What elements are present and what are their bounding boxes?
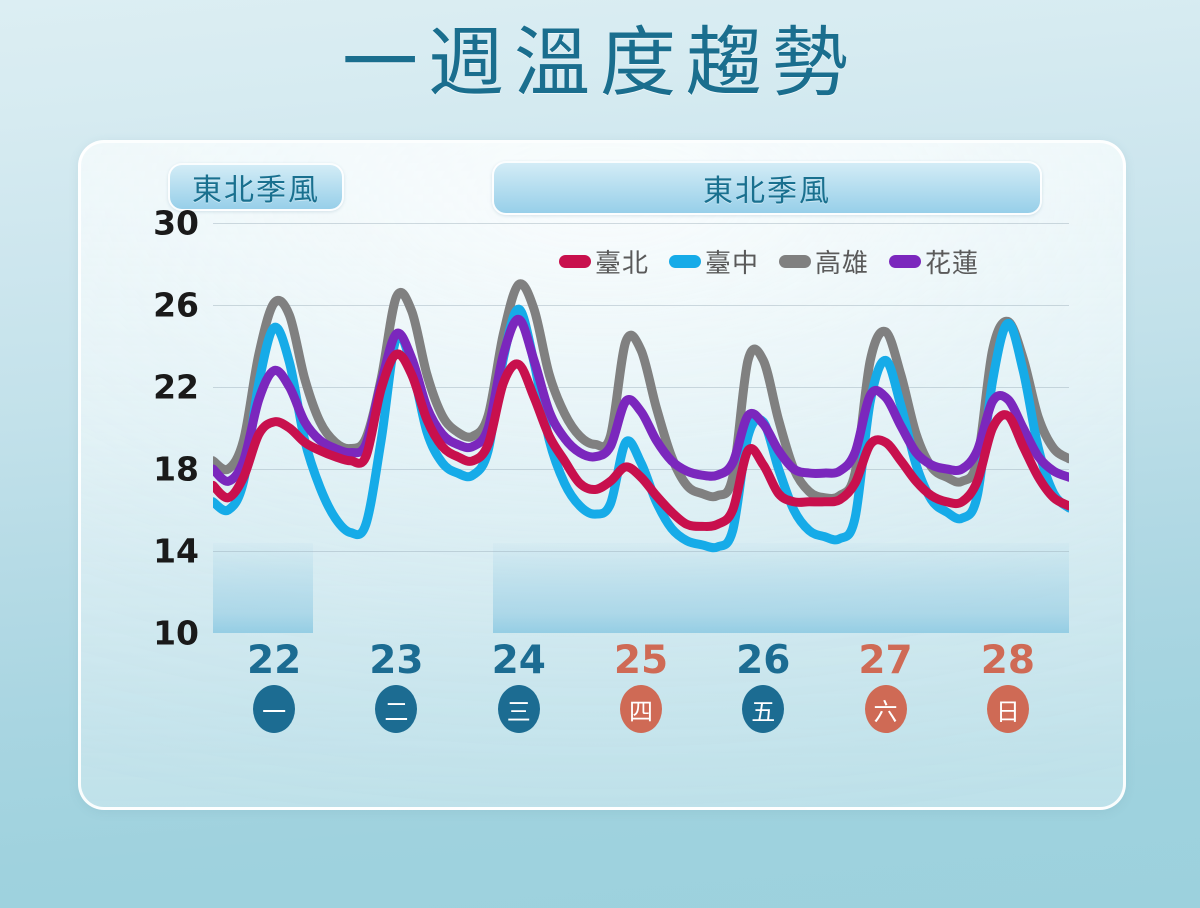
date-column-26[interactable]: 26五 <box>702 641 824 733</box>
date-column-24[interactable]: 24三 <box>458 641 580 733</box>
date-column-25[interactable]: 25四 <box>580 641 702 733</box>
weekday-badge-24: 三 <box>498 685 540 733</box>
weekday-badge-23: 二 <box>375 685 417 733</box>
weekday-badge-26: 五 <box>742 685 784 733</box>
page-title: 一週溫度趨勢 <box>0 18 1200 109</box>
date-column-23[interactable]: 23二 <box>335 641 457 733</box>
weekday-badge-25: 四 <box>620 685 662 733</box>
chart-card: 東北季風 東北季風 臺北 臺中 高雄 花蓮 101418222630 22一23… <box>78 140 1126 810</box>
date-number-22: 22 <box>247 641 301 680</box>
y-tick-14: 14 <box>153 532 199 571</box>
date-number-26: 26 <box>736 641 790 680</box>
y-tick-26: 26 <box>153 286 199 325</box>
series-line-臺北 <box>213 354 1069 527</box>
x-axis-dates: 22一23二24三25四26五27六28日 <box>213 641 1069 733</box>
y-tick-18: 18 <box>153 450 199 489</box>
monsoon-badge-2: 東北季風 <box>492 161 1042 215</box>
date-column-22[interactable]: 22一 <box>213 641 335 733</box>
date-column-27[interactable]: 27六 <box>824 641 946 733</box>
y-tick-22: 22 <box>153 368 199 407</box>
weekday-badge-28: 日 <box>987 685 1029 733</box>
y-tick-30: 30 <box>153 204 199 243</box>
temperature-line-chart <box>213 223 1069 633</box>
weekday-badge-22: 一 <box>253 685 295 733</box>
date-number-25: 25 <box>614 641 668 680</box>
date-column-28[interactable]: 28日 <box>947 641 1069 733</box>
date-number-24: 24 <box>492 641 546 680</box>
y-tick-10: 10 <box>153 614 199 653</box>
plot-area: 101418222630 <box>213 223 1069 633</box>
date-number-28: 28 <box>981 641 1035 680</box>
date-number-27: 27 <box>858 641 912 680</box>
weekday-badge-27: 六 <box>865 685 907 733</box>
date-number-23: 23 <box>369 641 423 680</box>
